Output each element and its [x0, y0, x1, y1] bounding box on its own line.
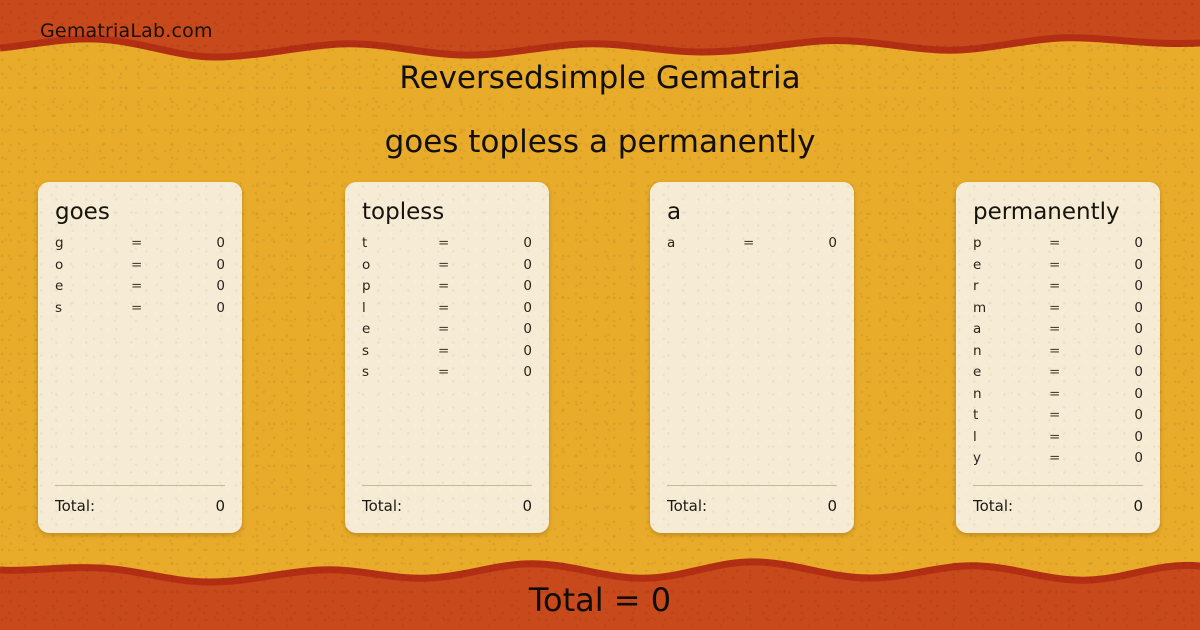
letter-row: l = 0 — [362, 300, 532, 322]
card-total: Total: 0 — [362, 485, 532, 515]
letter-row: p = 0 — [973, 235, 1143, 257]
letter-row: e = 0 — [973, 364, 1143, 386]
card-word: topless — [362, 197, 532, 227]
card-word: goes — [55, 197, 225, 227]
letter-rows: t = 0 o = 0 p = 0 l = 0 — [362, 235, 532, 386]
letter-row: g = 0 — [55, 235, 225, 257]
card-total: Total: 0 — [973, 485, 1143, 515]
letter-value: 0 — [482, 343, 532, 359]
letter-value: 0 — [175, 278, 225, 294]
word-card: topless t = 0 o = 0 p = 0 l — [345, 182, 549, 533]
letter: n — [973, 386, 1049, 402]
card-total: Total: 0 — [667, 485, 837, 515]
letter: l — [973, 429, 1049, 445]
letter: s — [362, 364, 438, 380]
equals-icon: = — [438, 300, 482, 316]
card-total-label: Total: — [55, 497, 95, 515]
letter-row: a = 0 — [667, 235, 837, 257]
letter-value: 0 — [1093, 343, 1143, 359]
equals-icon: = — [131, 278, 175, 294]
letter-rows: p = 0 e = 0 r = 0 m = 0 — [973, 235, 1143, 472]
equals-icon: = — [1049, 450, 1093, 466]
letter-row: s = 0 — [55, 300, 225, 322]
letter-row: e = 0 — [973, 257, 1143, 279]
letter-row: e = 0 — [55, 278, 225, 300]
letter: e — [973, 364, 1049, 380]
card-total: Total: 0 — [55, 485, 225, 515]
letter-value: 0 — [1093, 407, 1143, 423]
letter-value: 0 — [1093, 257, 1143, 273]
letter: r — [973, 278, 1049, 294]
letter: l — [362, 300, 438, 316]
equals-icon: = — [1049, 321, 1093, 337]
letter-row: r = 0 — [973, 278, 1143, 300]
letter: p — [973, 235, 1049, 251]
card-total-value: 0 — [522, 497, 532, 515]
letter-row: n = 0 — [973, 386, 1143, 408]
letter-row: t = 0 — [362, 235, 532, 257]
letter: y — [973, 450, 1049, 466]
letter: o — [55, 257, 131, 273]
letter-value: 0 — [482, 300, 532, 316]
divider — [667, 485, 837, 486]
letter: t — [362, 235, 438, 251]
letter: e — [362, 321, 438, 337]
letter: e — [55, 278, 131, 294]
letter: e — [973, 257, 1049, 273]
phrase-title: goes topless a permanently — [0, 120, 1200, 164]
letter: o — [362, 257, 438, 273]
brand-label[interactable]: GematriaLab.com — [40, 20, 213, 42]
letter: g — [55, 235, 131, 251]
letter-value: 0 — [1093, 321, 1143, 337]
equals-icon: = — [438, 321, 482, 337]
equals-icon: = — [438, 343, 482, 359]
letter-value: 0 — [482, 321, 532, 337]
equals-icon: = — [438, 235, 482, 251]
divider — [973, 485, 1143, 486]
card-total-label: Total: — [973, 497, 1013, 515]
letter-row: s = 0 — [362, 364, 532, 386]
letter-value: 0 — [175, 257, 225, 273]
letter-value: 0 — [1093, 364, 1143, 380]
word-card-list: goes g = 0 o = 0 e = 0 s — [0, 182, 1200, 534]
equals-icon: = — [438, 364, 482, 380]
word-card: permanently p = 0 e = 0 r = 0 — [956, 182, 1160, 533]
letter-value: 0 — [1093, 450, 1143, 466]
equals-icon: = — [1049, 429, 1093, 445]
letter-row: y = 0 — [973, 450, 1143, 472]
card-total-value: 0 — [827, 497, 837, 515]
letter: t — [973, 407, 1049, 423]
letter-rows: g = 0 o = 0 e = 0 s = 0 — [55, 235, 225, 321]
card-word: a — [667, 197, 837, 227]
letter-value: 0 — [1093, 386, 1143, 402]
word-card: a a = 0 Total: 0 — [650, 182, 854, 533]
letter-value: 0 — [482, 257, 532, 273]
letter: a — [973, 321, 1049, 337]
equals-icon: = — [1049, 235, 1093, 251]
letter-value: 0 — [1093, 429, 1143, 445]
letter: s — [55, 300, 131, 316]
letter-row: t = 0 — [973, 407, 1143, 429]
letter: p — [362, 278, 438, 294]
gematria-image-canvas: GematriaLab.com Reversedsimple Gematria … — [0, 0, 1200, 630]
letter-row: a = 0 — [973, 321, 1143, 343]
letter-value: 0 — [1093, 235, 1143, 251]
card-word: permanently — [973, 197, 1143, 227]
equals-icon: = — [1049, 343, 1093, 359]
letter-row: o = 0 — [55, 257, 225, 279]
letter: s — [362, 343, 438, 359]
letter-value: 0 — [1093, 300, 1143, 316]
letter-row: o = 0 — [362, 257, 532, 279]
equals-icon: = — [1049, 407, 1093, 423]
card-total-label: Total: — [667, 497, 707, 515]
equals-icon: = — [1049, 300, 1093, 316]
letter-row: l = 0 — [973, 429, 1143, 451]
equals-icon: = — [131, 257, 175, 273]
letter-row: s = 0 — [362, 343, 532, 365]
letter-value: 0 — [482, 278, 532, 294]
letter-value: 0 — [1093, 278, 1143, 294]
letter-row: n = 0 — [973, 343, 1143, 365]
card-total-value: 0 — [1133, 497, 1143, 515]
letter-value: 0 — [482, 235, 532, 251]
letter-row: p = 0 — [362, 278, 532, 300]
card-total-label: Total: — [362, 497, 402, 515]
header-block: Reversedsimple Gematria goes topless a p… — [0, 56, 1200, 164]
equals-icon: = — [131, 235, 175, 251]
equals-icon: = — [131, 300, 175, 316]
word-card: goes g = 0 o = 0 e = 0 s — [38, 182, 242, 533]
card-total-value: 0 — [215, 497, 225, 515]
letter-row: m = 0 — [973, 300, 1143, 322]
grand-total: Total = 0 — [0, 581, 1200, 619]
equals-icon: = — [743, 235, 787, 251]
equals-icon: = — [438, 257, 482, 273]
divider — [362, 485, 532, 486]
letter-value: 0 — [787, 235, 837, 251]
equals-icon: = — [1049, 278, 1093, 294]
equals-icon: = — [1049, 364, 1093, 380]
equals-icon: = — [438, 278, 482, 294]
letter-rows: a = 0 — [667, 235, 837, 257]
letter: m — [973, 300, 1049, 316]
letter: n — [973, 343, 1049, 359]
letter-value: 0 — [175, 300, 225, 316]
letter: a — [667, 235, 743, 251]
letter-row: e = 0 — [362, 321, 532, 343]
cipher-title: Reversedsimple Gematria — [0, 56, 1200, 100]
letter-value: 0 — [482, 364, 532, 380]
equals-icon: = — [1049, 386, 1093, 402]
letter-value: 0 — [175, 235, 225, 251]
equals-icon: = — [1049, 257, 1093, 273]
divider — [55, 485, 225, 486]
